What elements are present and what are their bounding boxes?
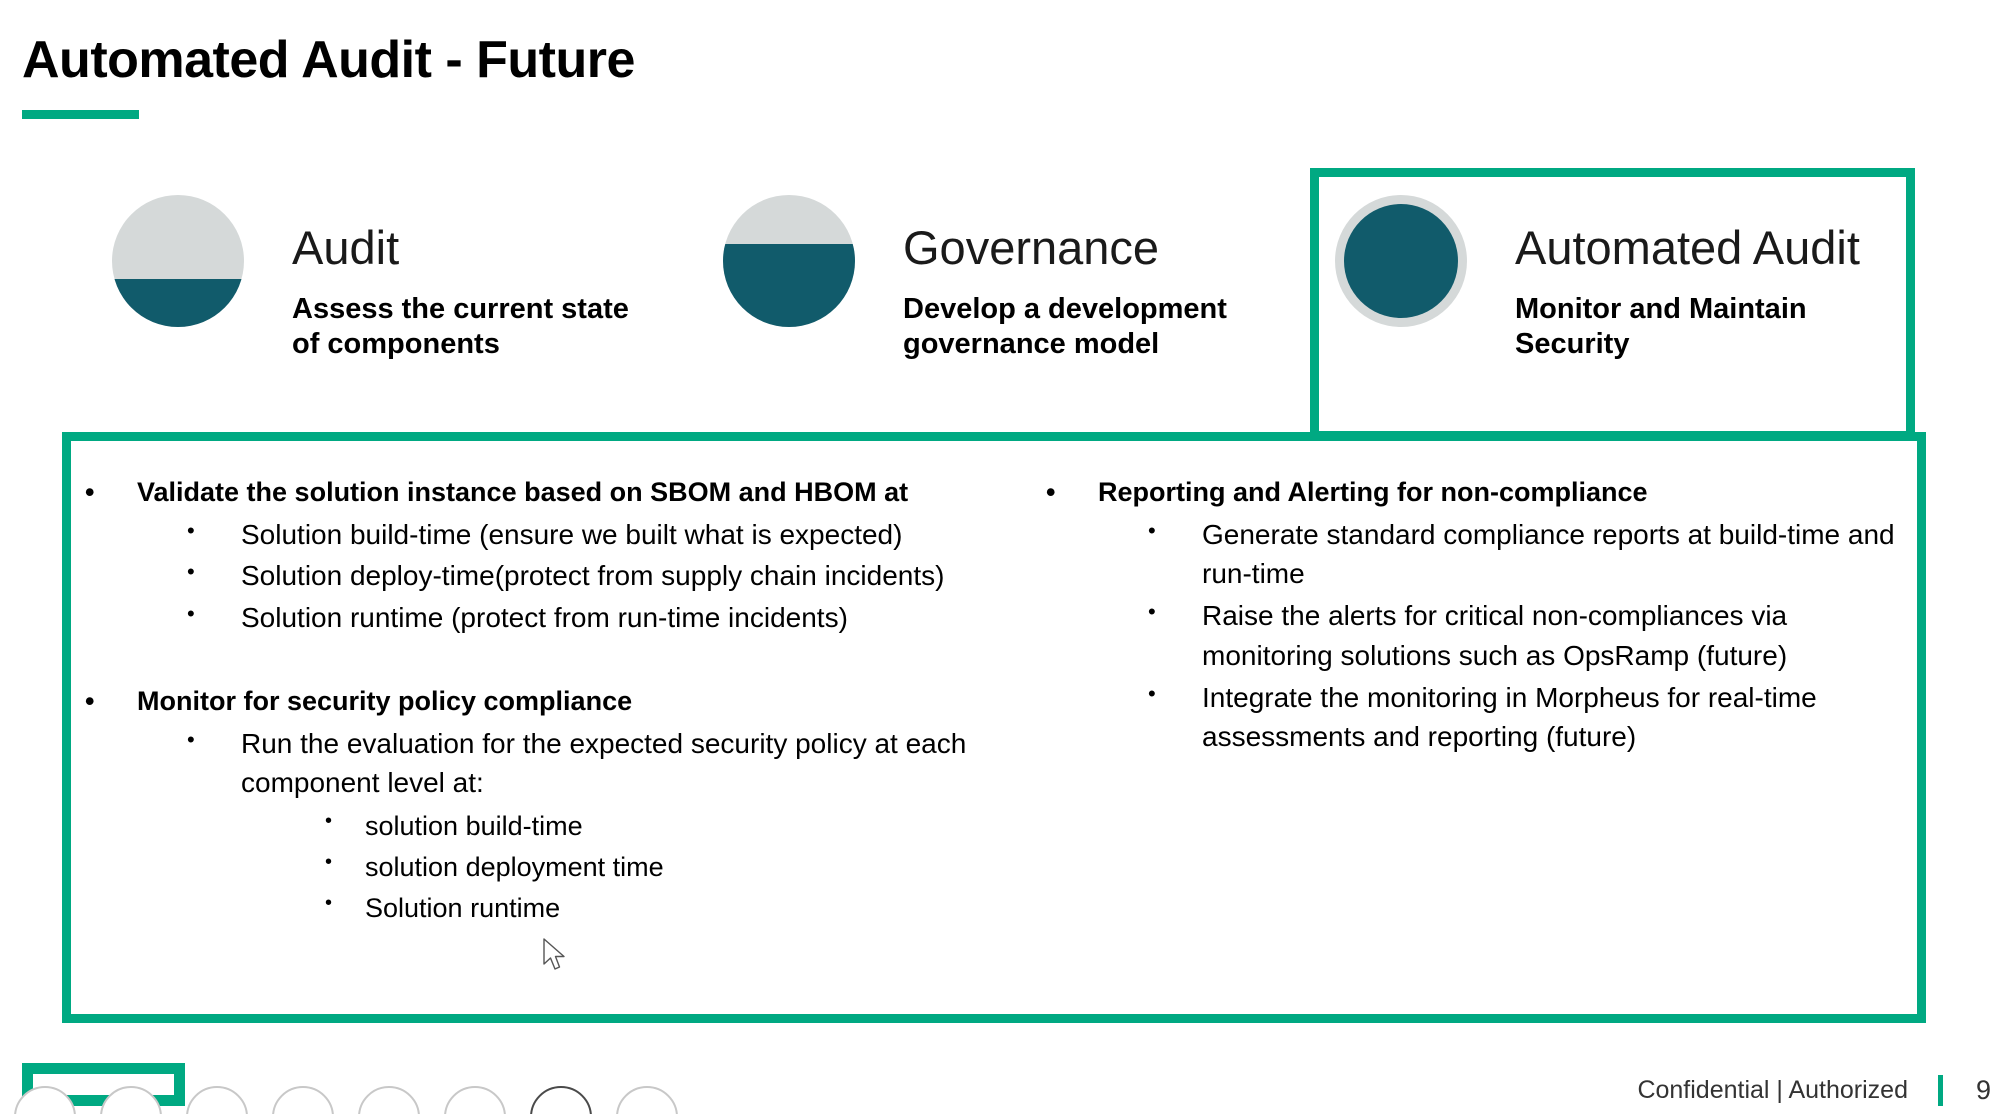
list-item: • Validate the solution instance based o… <box>85 475 978 638</box>
title-accent-rule <box>22 110 139 119</box>
dock-icon-finder[interactable] <box>100 1086 162 1114</box>
list-item-label: Solution runtime (protect from run-time … <box>241 598 978 638</box>
bullet-glyph-icon: • <box>325 807 332 836</box>
slide-canvas: Automated Audit - Future Audit Assess th… <box>0 0 2013 1114</box>
list-item-label: Solution runtime <box>365 889 978 928</box>
list-item-label: Monitor for security policy compliance <box>137 684 978 720</box>
bullet-glyph-icon: • <box>85 684 94 720</box>
dock-icon-launchpad[interactable] <box>186 1086 248 1114</box>
list-item: • Solution runtime (protect from run-tim… <box>175 598 978 638</box>
bullet-group-spacer <box>85 642 978 684</box>
bubble-fill <box>723 244 855 327</box>
left-sublist-2: • Run the evaluation for the expected se… <box>175 724 978 928</box>
list-item: • Monitor for security policy compliance… <box>85 684 978 928</box>
bullet-glyph-icon: • <box>1148 678 1156 709</box>
stage-automated-audit-text: Automated Audit Monitor and Maintain Sec… <box>1515 195 1860 361</box>
confidentiality-note: Confidential | Authorized <box>1637 1076 1908 1105</box>
page-title: Automated Audit - Future <box>22 30 635 90</box>
bullet-glyph-icon: • <box>1148 596 1156 627</box>
list-item: • Solution runtime <box>283 889 978 928</box>
list-item-label: solution deployment time <box>365 848 978 887</box>
detail-right-column: • Reporting and Alerting for non-complia… <box>994 441 1917 1014</box>
dock-bar[interactable] <box>14 1086 678 1114</box>
footer-divider <box>1938 1075 1943 1106</box>
list-item: • solution build-time <box>283 807 978 846</box>
detail-panel: • Validate the solution instance based o… <box>62 432 1926 1023</box>
progress-bubble-automated-audit-icon <box>1335 195 1467 327</box>
progress-bubble-audit-icon <box>112 195 244 327</box>
list-item-label: Raise the alerts for critical non-compli… <box>1202 596 1901 676</box>
list-item-label: Solution deploy-time(protect from supply… <box>241 556 978 596</box>
bullet-glyph-icon: • <box>187 556 195 587</box>
dock-icon-active-app[interactable] <box>530 1086 592 1114</box>
list-item-label: Integrate the monitoring in Morpheus for… <box>1202 678 1901 758</box>
list-item: • Reporting and Alerting for non-complia… <box>1046 475 1901 757</box>
list-item: • Solution build-time (ensure we built w… <box>175 515 978 555</box>
list-item: • solution deployment time <box>283 848 978 887</box>
bullet-glyph-icon: • <box>187 515 195 546</box>
stage-audit-text: Audit Assess the current state of compon… <box>292 195 629 361</box>
stage-governance-label: Governance <box>903 223 1227 272</box>
list-item-label: Reporting and Alerting for non-complianc… <box>1098 475 1901 511</box>
dock-icon-browser[interactable] <box>272 1086 334 1114</box>
slide-footer: Confidential | Authorized 9 <box>1637 1075 1991 1106</box>
bubble-fill <box>112 279 244 327</box>
progress-bubble-governance-icon <box>723 195 855 327</box>
dock-icon-notes[interactable] <box>444 1086 506 1114</box>
stage-automated-audit-label: Automated Audit <box>1515 223 1860 272</box>
stage-automated-audit: Automated Audit Monitor and Maintain Sec… <box>1335 195 1860 361</box>
dock-icon-1[interactable] <box>14 1086 76 1114</box>
stage-audit-subtitle: Assess the current state of components <box>292 292 629 360</box>
stage-governance: Governance Develop a development governa… <box>723 195 1227 361</box>
page-number: 9 <box>1969 1075 1991 1106</box>
bullet-glyph-icon: • <box>85 475 94 511</box>
left-sublist-2-nested: • solution build-time • solution deploym… <box>283 807 978 928</box>
stage-audit: Audit Assess the current state of compon… <box>112 195 629 361</box>
dock-icon-7[interactable] <box>616 1086 678 1114</box>
dock-icon-mail[interactable] <box>358 1086 420 1114</box>
list-item: • Solution deploy-time(protect from supp… <box>175 556 978 596</box>
list-item: • Generate standard compliance reports a… <box>1136 515 1901 595</box>
list-item-label: Run the evaluation for the expected secu… <box>241 724 978 804</box>
mouse-cursor-icon <box>543 938 569 974</box>
detail-left-column: • Validate the solution instance based o… <box>71 441 994 1014</box>
bullet-glyph-icon: • <box>187 724 195 755</box>
left-sublist-1: • Solution build-time (ensure we built w… <box>175 515 978 638</box>
bullet-glyph-icon: • <box>325 889 332 918</box>
stage-governance-subtitle: Develop a development governance model <box>903 292 1227 360</box>
bullet-glyph-icon: • <box>187 598 195 629</box>
stage-audit-label: Audit <box>292 223 629 272</box>
bubble-fill <box>1344 204 1458 318</box>
list-item: • Integrate the monitoring in Morpheus f… <box>1136 678 1901 758</box>
stage-automated-audit-subtitle: Monitor and Maintain Security <box>1515 292 1860 360</box>
right-bullet-list: • Reporting and Alerting for non-complia… <box>1046 475 1901 757</box>
list-item-label: Generate standard compliance reports at … <box>1202 515 1901 595</box>
list-item: • Raise the alerts for critical non-comp… <box>1136 596 1901 676</box>
list-item-label: solution build-time <box>365 807 978 846</box>
list-item-label: Solution build-time (ensure we built wha… <box>241 515 978 555</box>
left-bullet-list: • Validate the solution instance based o… <box>85 475 978 928</box>
stage-governance-text: Governance Develop a development governa… <box>903 195 1227 361</box>
list-item: • Run the evaluation for the expected se… <box>175 724 978 928</box>
bullet-glyph-icon: • <box>1148 515 1156 546</box>
right-sublist-1: • Generate standard compliance reports a… <box>1136 515 1901 758</box>
list-item-label: Validate the solution instance based on … <box>137 475 978 511</box>
bullet-glyph-icon: • <box>325 848 332 877</box>
bullet-glyph-icon: • <box>1046 475 1055 511</box>
